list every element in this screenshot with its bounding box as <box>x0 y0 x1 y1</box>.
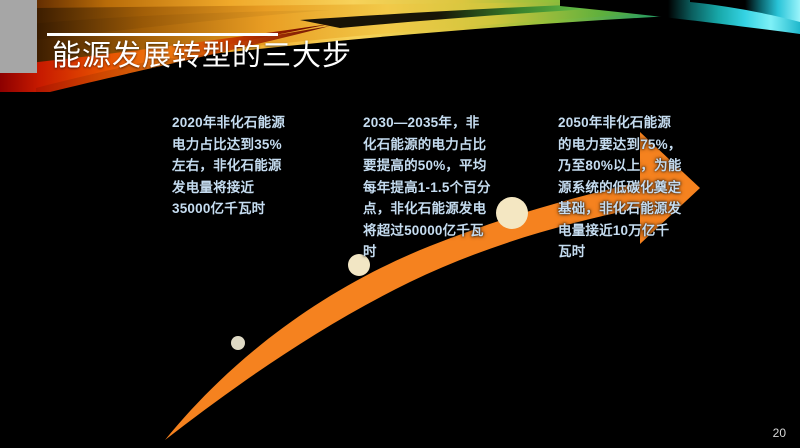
page-number: 20 <box>773 426 786 440</box>
stage-3-marker <box>496 197 528 229</box>
stage-2050-text: 2050年非化石能源的电力要达到75%，乃至80%以上，为能源系统的低碳化奠定基… <box>558 112 682 263</box>
stage-2030-2035-text: 2030—2035年，非化石能源的电力占比要提高的50%，平均每年提高1-1.5… <box>363 112 493 263</box>
stage-1-marker <box>231 336 245 350</box>
stage-2020-text: 2020年非化石能源电力占比达到35%左右，非化石能源发电量将接近35000亿千… <box>172 112 290 220</box>
slide-canvas: 能源发展转型的三大步 2020年非化石能源电力占比达到35%左右，非化石能源发电… <box>0 0 800 448</box>
